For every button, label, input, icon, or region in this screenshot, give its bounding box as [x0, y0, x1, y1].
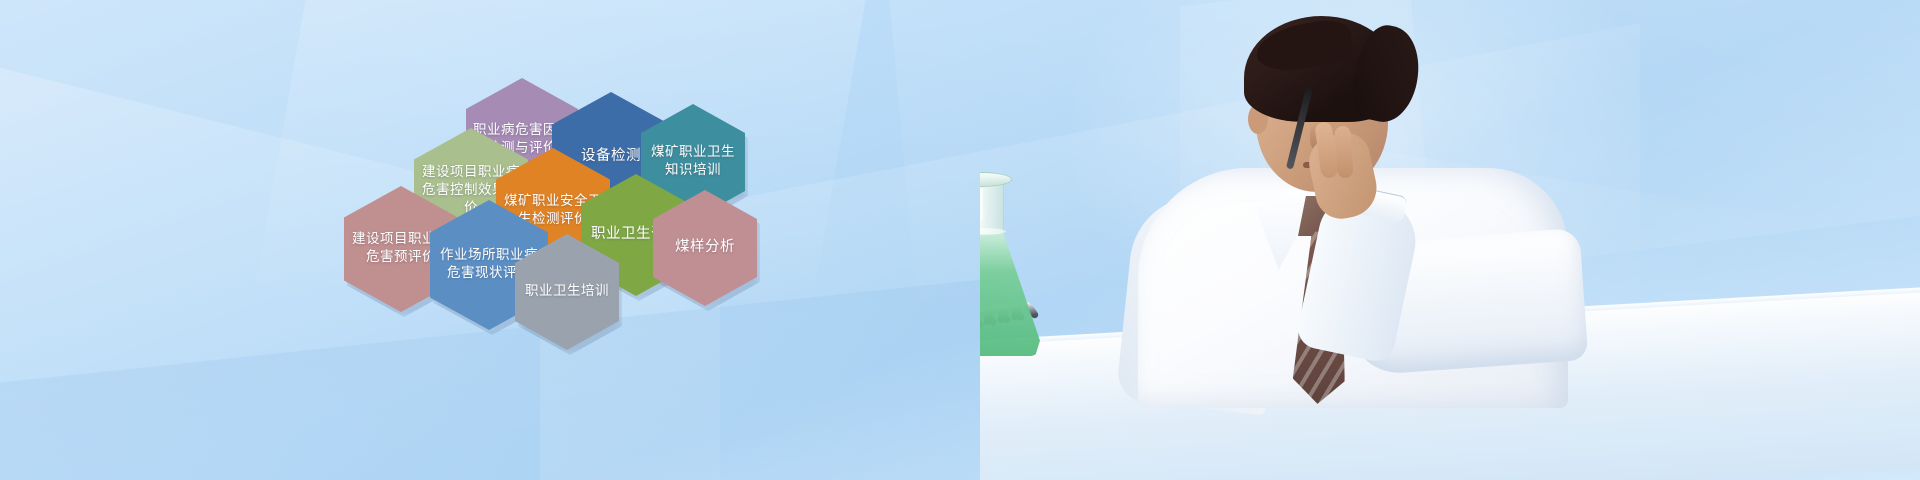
- flask-lip: [980, 172, 1012, 187]
- hexagon-label: 职业卫生培训: [521, 283, 613, 301]
- flask-body: [980, 228, 1040, 356]
- erlenmeyer-flask: [980, 176, 1090, 366]
- photo-composition: [980, 0, 1920, 480]
- flask-neck-highlight: [980, 188, 983, 222]
- hexagon-label: 煤矿职业卫生知识培训: [647, 144, 739, 180]
- hexagon-cluster: 职业病危害因素检测与评价设备检测煤矿职业卫生知识培训建设项目职业病危害控制效果评…: [0, 0, 960, 480]
- hexagon-label: 煤样分析: [659, 238, 751, 257]
- person-figure: [1060, 0, 1580, 400]
- banner-root: 职业病危害因素检测与评价设备检测煤矿职业卫生知识培训建设项目职业病危害控制效果评…: [0, 0, 1920, 480]
